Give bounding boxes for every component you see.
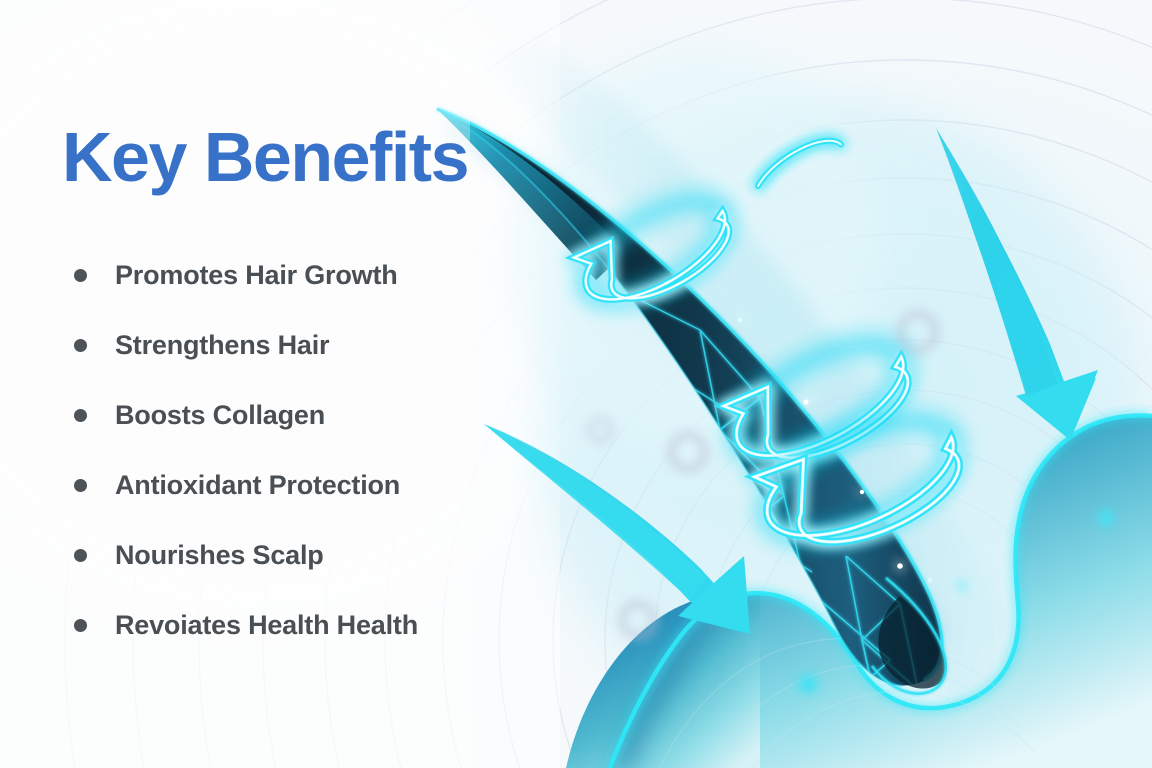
slide-canvas: Key Benefits Promotes Hair Growth Streng… [0, 0, 1152, 768]
hair-follicle-illustration [0, 0, 1152, 768]
